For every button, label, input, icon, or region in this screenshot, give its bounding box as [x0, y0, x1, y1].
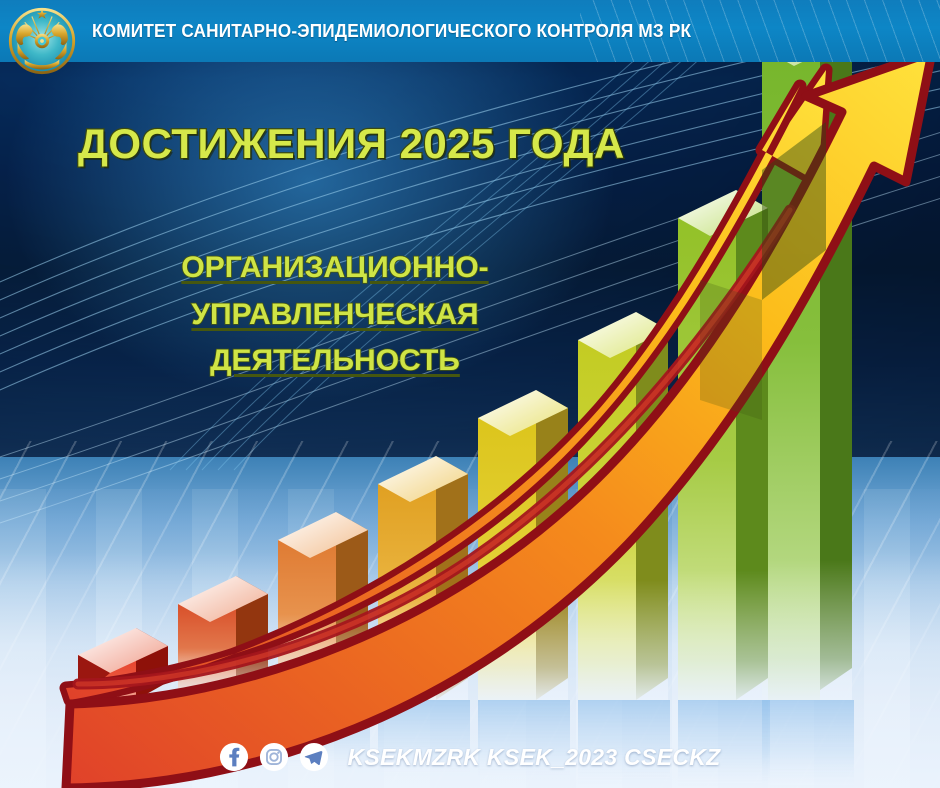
footer-social-bar: KSEKMZRK KSEK_2023 CSECKZ: [0, 734, 940, 780]
page-title: ДОСТИЖЕНИЯ 2025 ГОДА: [78, 120, 625, 168]
telegram-icon[interactable]: [299, 742, 329, 772]
social-handles: KSEKMZRK KSEK_2023 CSECKZ: [347, 744, 720, 771]
subtitle-line-2: УПРАВЛЕНЧЕСКАЯ: [191, 298, 478, 331]
facebook-icon[interactable]: [219, 742, 249, 772]
instagram-icon[interactable]: [259, 742, 289, 772]
poster-canvas: КОМИТЕТ САНИТАРНО-ЭПИДЕМИОЛОГИЧЕСКОГО КО…: [0, 0, 940, 788]
kazakhstan-state-emblem-icon: [6, 4, 78, 78]
organization-title: КОМИТЕТ САНИТАРНО-ЭПИДЕМИОЛОГИЧЕСКОГО КО…: [92, 20, 691, 42]
page-subtitle: ОРГАНИЗАЦИОННО- УПРАВЛЕНЧЕСКАЯ ДЕЯТЕЛЬНО…: [120, 245, 550, 385]
subtitle-line-3: ДЕЯТЕЛЬНОСТЬ: [210, 344, 460, 377]
subtitle-line-1: ОРГАНИЗАЦИОННО-: [181, 251, 488, 284]
header-bar: КОМИТЕТ САНИТАРНО-ЭПИДЕМИОЛОГИЧЕСКОГО КО…: [0, 0, 940, 62]
